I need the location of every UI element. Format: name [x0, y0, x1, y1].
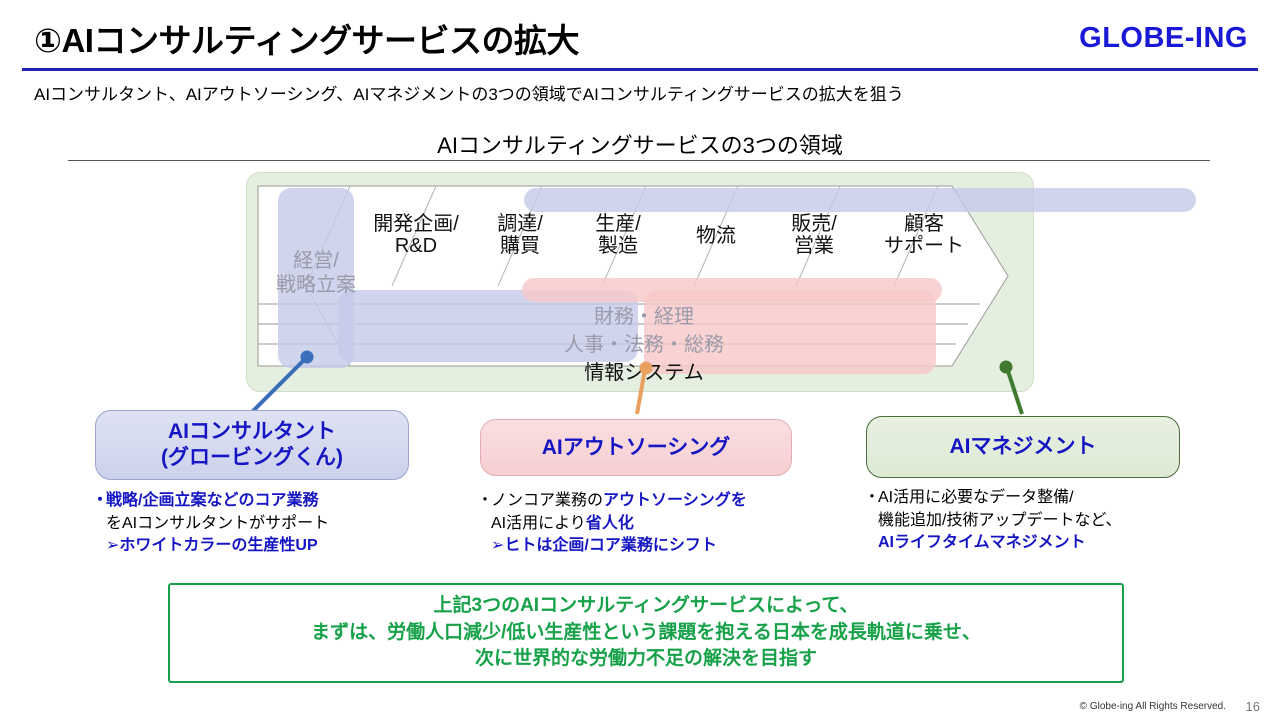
bullet-text: ノンコア業務のアウトソーシングを: [491, 490, 747, 513]
brand-logo: GLOBE-ING: [1079, 22, 1248, 55]
header-divider: [22, 68, 1258, 71]
bullet-row: AI活用により省人化: [477, 513, 817, 536]
bullet-text-strong: ヒトは企画/コア業務にシフト: [504, 535, 716, 558]
section-divider: [68, 160, 1210, 161]
bullet-row: 機能追加/技術アップデートなど、: [864, 510, 1194, 533]
card-ai-outsourcing-title: AIアウトソーシング: [542, 435, 731, 461]
page-title: ①AIコンサルティングサービスの拡大: [34, 14, 579, 62]
card-ai-management-title: AIマネジメント: [950, 434, 1097, 460]
bullet-text-strong: ホワイトカラーの生産性UP: [119, 535, 317, 558]
bullet-row: ・ 戦略/企画立案などのコア業務: [92, 490, 422, 513]
lead-text: AIコンサルタント、AIアウトソーシング、AIマネジメントの3つの領域でAIコン…: [34, 80, 904, 105]
stage-5-line1: 顧客: [864, 214, 984, 236]
page-number: 16: [1246, 699, 1260, 714]
summary-line-2: まずは、労働人口減少/低い生産性という課題を抱える日本を成長軌道に乗せ、: [311, 620, 981, 647]
bullet-text: 機能追加/技術アップデートなど、: [878, 510, 1122, 533]
bullet-row: ・ ノンコア業務のアウトソーシングを: [477, 490, 817, 513]
summary-line-3: 次に世界的な労働力不足の解決を目指す: [311, 646, 981, 673]
stage-4-line1: 販売/: [762, 214, 866, 236]
card-ai-consultant[interactable]: AIコンサルタント (グロービングくん): [95, 410, 409, 480]
value-chain-stage-3: 物流: [664, 226, 768, 248]
bullet-text-plain: AI活用により: [491, 515, 586, 532]
value-chain-stage-2: 生産/ 製造: [566, 214, 670, 257]
bullet-marker: ・: [864, 487, 878, 510]
stage-2-line2: 製造: [566, 236, 670, 258]
bullet-text-strong: 省人化: [586, 515, 634, 532]
bullets-ai-outsourcing: ・ ノンコア業務のアウトソーシングを AI活用により省人化 ➢ ヒトは企画/コア…: [477, 490, 817, 558]
support-row-0: 財務・経理: [544, 300, 744, 329]
stage-0-line2: R&D: [356, 236, 476, 258]
value-chain-stage-0: 開発企画/ R&D: [356, 214, 476, 257]
bullet-text-plain: ノンコア業務の: [491, 492, 603, 509]
bullets-ai-management: ・ AI活用に必要なデータ整備/ 機能追加/技術アップデートなど、 AIライフタ…: [864, 487, 1194, 555]
bullet-marker: ・: [477, 490, 491, 513]
card-0-title-line1: AIコンサルタント: [161, 419, 343, 445]
stage-1-line1: 調達/: [468, 214, 572, 236]
left-block-line2: 戦略立案: [258, 274, 374, 298]
stage-3-line1: 物流: [664, 226, 768, 248]
section-heading: AIコンサルティングサービスの3つの領域: [0, 128, 1280, 160]
bullet-arrow-marker: ➢: [106, 535, 119, 558]
card-ai-consultant-title: AIコンサルタント (グロービングくん): [161, 419, 343, 470]
support-row-1: 人事・法務・総務: [514, 328, 774, 357]
bullet-marker: ・: [92, 490, 106, 513]
summary-box: 上記3つのAIコンサルティングサービスによって、 まずは、労働人口減少/低い生産…: [168, 583, 1124, 683]
bullet-text-strong: 戦略/企画立案などのコア業務: [106, 490, 318, 513]
slide: ①AIコンサルティングサービスの拡大 GLOBE-ING AIコンサルタント、A…: [0, 0, 1280, 720]
bullet-row: ➢ ヒトは企画/コア業務にシフト: [477, 535, 817, 558]
bullet-text: AI活用に必要なデータ整備/: [878, 487, 1074, 510]
bullet-text-strong: アウトソーシングを: [603, 492, 747, 509]
bullet-text-strong: AIライフタイムマネジメント: [878, 532, 1086, 555]
value-chain-stage-4: 販売/ 営業: [762, 214, 866, 257]
summary-line-1: 上記3つのAIコンサルティングサービスによって、: [311, 593, 981, 620]
bullets-ai-consultant: ・ 戦略/企画立案などのコア業務 をAIコンサルタントがサポート ➢ ホワイトカ…: [92, 490, 422, 558]
value-chain-stage-5: 顧客 サポート: [864, 214, 984, 257]
stage-4-line2: 営業: [762, 236, 866, 258]
value-chain-diagram: 経営/ 戦略立案 開発企画/ R&D 調達/ 購買 生産/ 製造 物流 販売/ …: [246, 172, 1032, 390]
bullet-row: ➢ ホワイトカラーの生産性UP: [92, 535, 422, 558]
copyright-notice: © Globe-ing All Rights Reserved.: [1080, 701, 1226, 712]
stage-0-line1: 開発企画/: [356, 214, 476, 236]
support-row-2: 情報システム: [534, 356, 754, 385]
card-1-title-line1: AIアウトソーシング: [542, 435, 731, 461]
bullet-text: AI活用により省人化: [491, 513, 634, 536]
card-ai-outsourcing[interactable]: AIアウトソーシング: [480, 419, 792, 476]
bullet-row: AIライフタイムマネジメント: [864, 532, 1194, 555]
bullet-text: をAIコンサルタントがサポート: [106, 513, 329, 536]
value-chain-stage-1: 調達/ 購買: [468, 214, 572, 257]
bullet-row: をAIコンサルタントがサポート: [92, 513, 422, 536]
summary-text: 上記3つのAIコンサルティングサービスによって、 まずは、労働人口減少/低い生産…: [311, 593, 981, 674]
stage-5-line2: サポート: [864, 236, 984, 258]
bullet-row: ・ AI活用に必要なデータ整備/: [864, 487, 1194, 510]
card-2-title-line1: AIマネジメント: [950, 434, 1097, 460]
card-0-title-line2: (グロービングくん): [161, 445, 343, 471]
highlight-band-consultant-top: [524, 188, 1196, 212]
bullet-arrow-marker: ➢: [491, 535, 504, 558]
stage-2-line1: 生産/: [566, 214, 670, 236]
stage-1-line2: 購買: [468, 236, 572, 258]
card-ai-management[interactable]: AIマネジメント: [866, 416, 1180, 478]
